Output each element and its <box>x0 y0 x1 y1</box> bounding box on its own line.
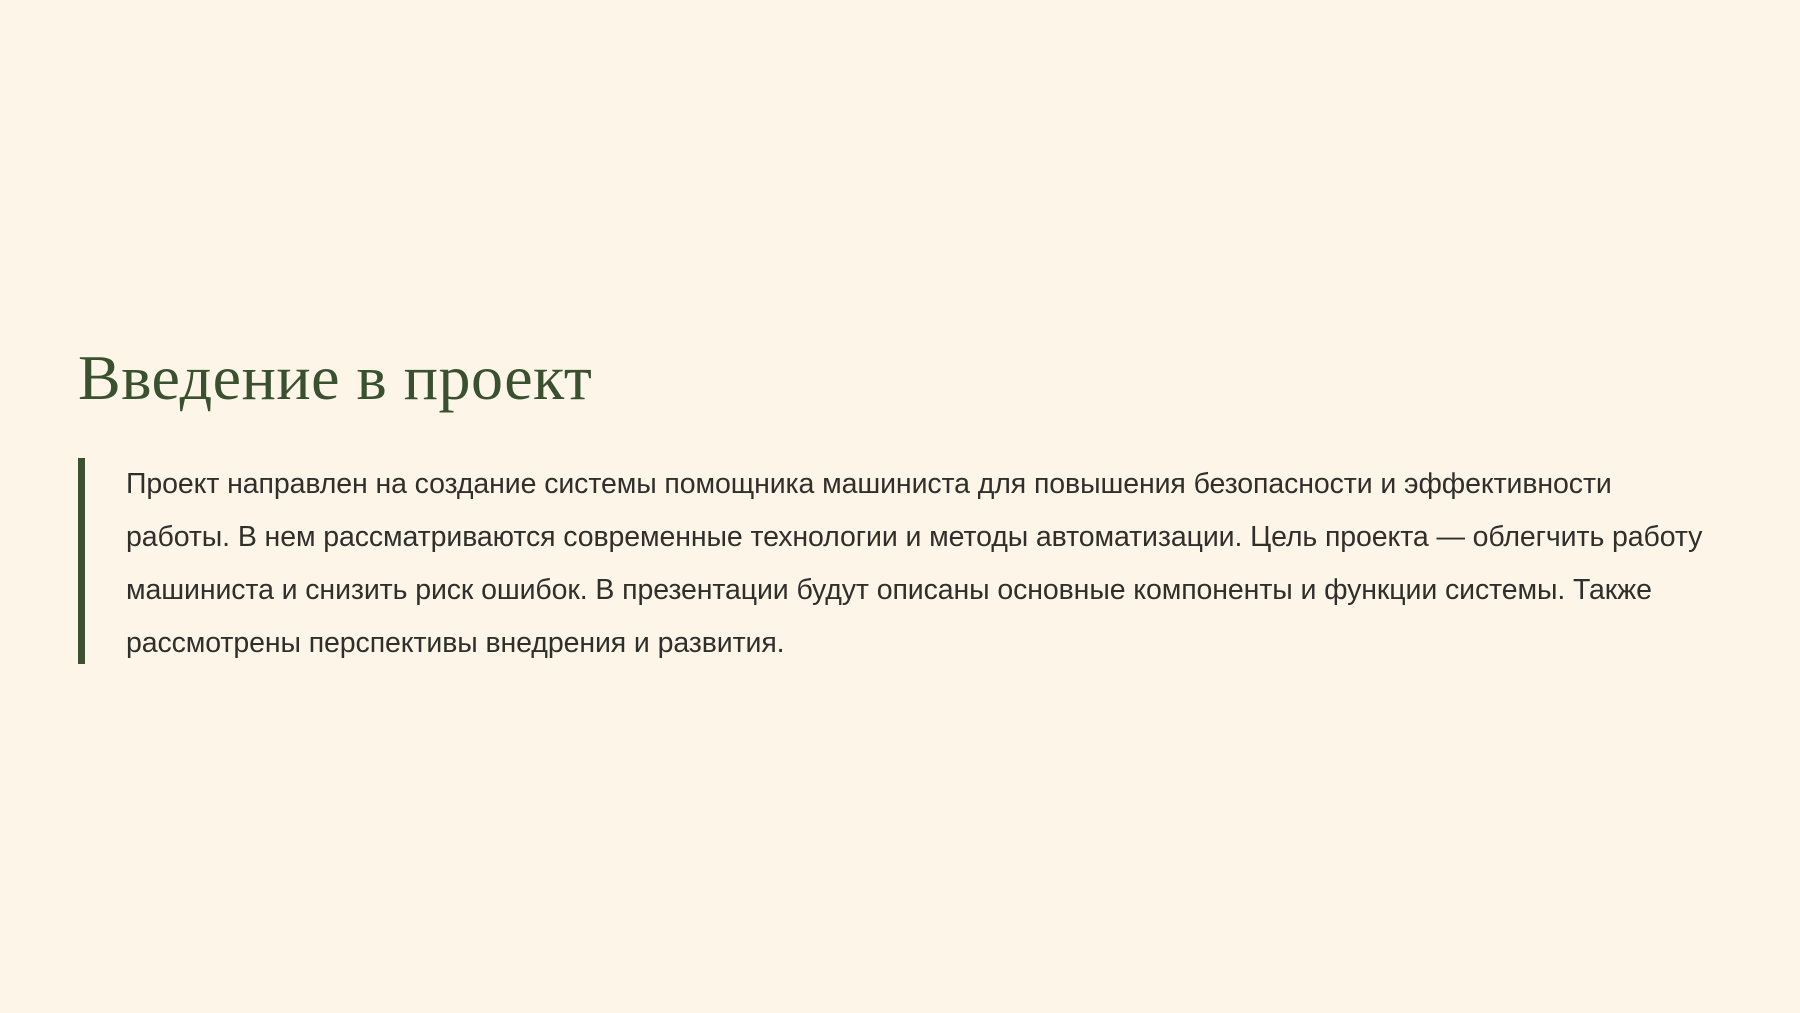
presentation-slide: Введение в проект Проект направлен на со… <box>0 0 1800 1013</box>
accent-bar <box>78 458 85 664</box>
body-paragraph: Проект направлен на создание системы пом… <box>126 458 1718 670</box>
body-block: Проект направлен на создание системы пом… <box>78 458 1718 670</box>
page-title: Введение в проект <box>78 342 1718 414</box>
slide-content: Введение в проект Проект направлен на со… <box>78 342 1718 670</box>
